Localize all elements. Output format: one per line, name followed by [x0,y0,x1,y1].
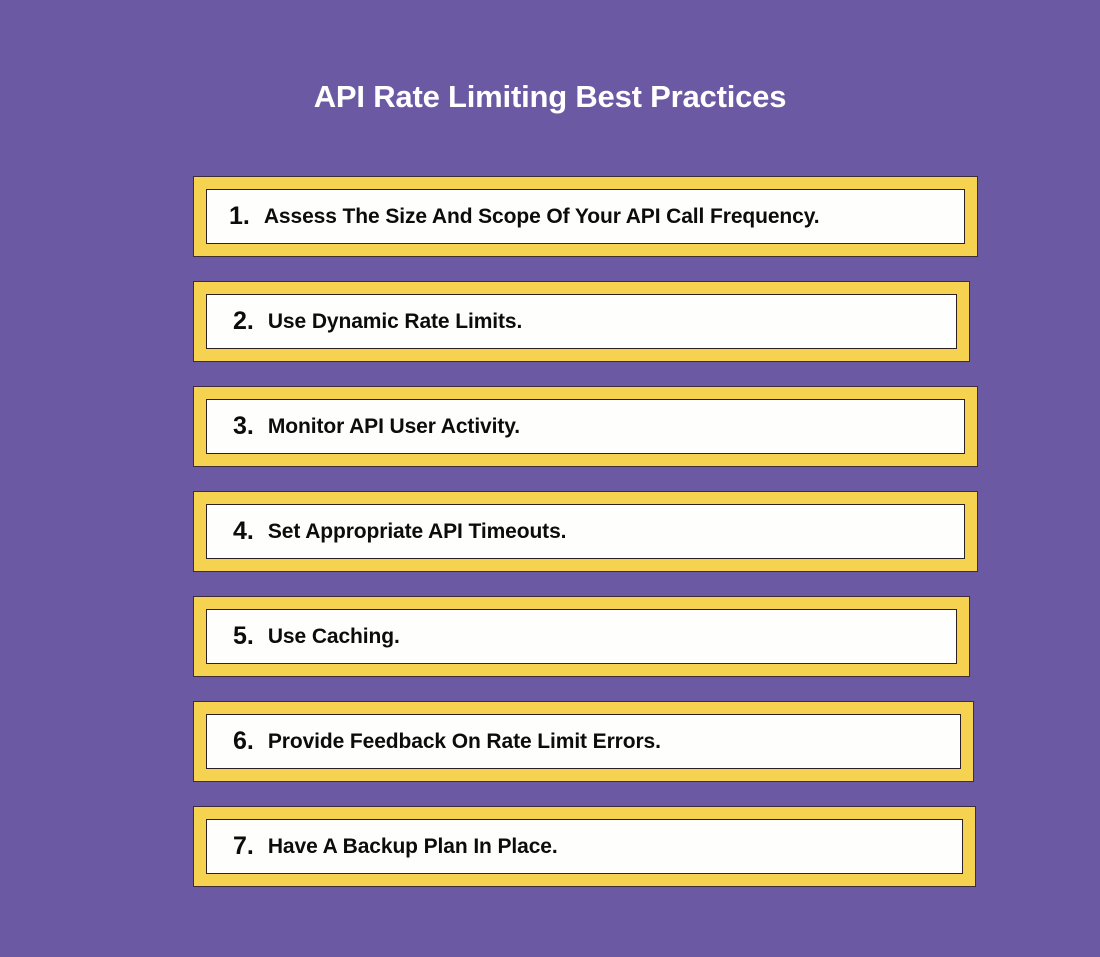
list-item: 4. Set Appropriate API Timeouts. [193,491,978,572]
best-practices-list: 1. Assess The Size And Scope Of Your API… [193,176,983,911]
list-item: 2. Use Dynamic Rate Limits. [193,281,970,362]
list-item-card: 5. Use Caching. [206,609,957,664]
list-item-card: 2. Use Dynamic Rate Limits. [206,294,957,349]
list-item: 1. Assess The Size And Scope Of Your API… [193,176,978,257]
list-item-card: 3. Monitor API User Activity. [206,399,965,454]
infographic-page: API Rate Limiting Best Practices 1. Asse… [0,0,1100,957]
list-item-card: 7. Have A Backup Plan In Place. [206,819,963,874]
list-item-label: Provide Feedback On Rate Limit Errors. [268,729,661,754]
page-title: API Rate Limiting Best Practices [0,76,1100,118]
list-item-label: Set Appropriate API Timeouts. [268,519,567,544]
list-item: 6. Provide Feedback On Rate Limit Errors… [193,701,974,782]
list-item-card: 6. Provide Feedback On Rate Limit Errors… [206,714,961,769]
list-item-card: 4. Set Appropriate API Timeouts. [206,504,965,559]
list-item-label: Have A Backup Plan In Place. [268,834,558,859]
list-item-label: Monitor API User Activity. [268,414,520,439]
list-item-number: 7. [233,834,254,859]
list-item-number: 3. [233,414,254,439]
list-item-number: 5. [233,624,254,649]
list-item-number: 2. [233,309,254,334]
list-item: 5. Use Caching. [193,596,970,677]
list-item-number: 4. [233,519,254,544]
list-item-number: 1. [229,204,250,229]
list-item-label: Use Caching. [268,624,400,649]
list-item: 7. Have A Backup Plan In Place. [193,806,976,887]
list-item-number: 6. [233,729,254,754]
list-item-label: Use Dynamic Rate Limits. [268,309,522,334]
list-item: 3. Monitor API User Activity. [193,386,978,467]
list-item-label: Assess The Size And Scope Of Your API Ca… [264,204,820,229]
list-item-card: 1. Assess The Size And Scope Of Your API… [206,189,965,244]
